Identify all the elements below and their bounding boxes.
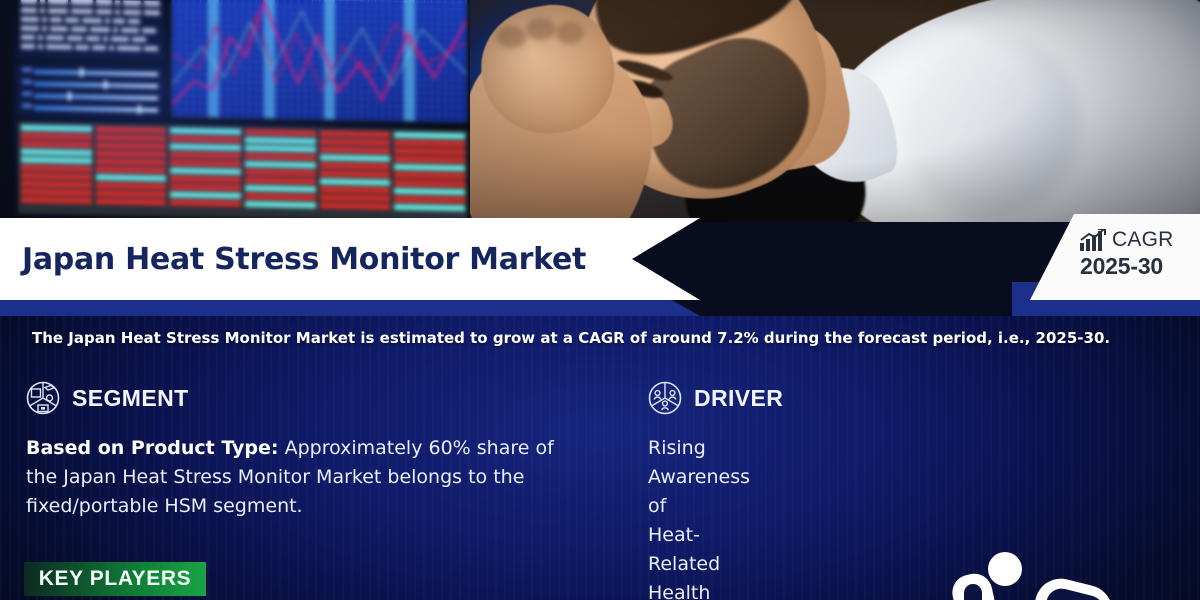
cagr-badge: CAGR 2025-30 (1030, 214, 1200, 300)
people-silhouette-icon (940, 548, 1140, 600)
key-players-label: KEY PLAYERS (39, 567, 192, 591)
page-title: Japan Heat Stress Monitor Market (0, 242, 586, 277)
bar-chart-growth-icon (1080, 229, 1106, 251)
driver-title: DRIVER (694, 385, 783, 412)
businessman-photo (470, 0, 1200, 222)
subtitle-strip: The Japan Heat Stress Monitor Market is … (0, 316, 1200, 360)
content-columns: SEGMENT Based on Product Type: Approxima… (0, 378, 1200, 548)
monitor-blur-overlay (0, 0, 502, 222)
title-banner: Japan Heat Stress Monitor Market (0, 218, 700, 300)
cagr-years: 2025-30 (1080, 253, 1200, 280)
cagr-label: CAGR (1112, 228, 1173, 252)
key-players-badge: KEY PLAYERS (24, 562, 206, 596)
driver-people-circle-icon (648, 381, 682, 415)
subtitle-text: The Japan Heat Stress Monitor Market is … (0, 329, 1110, 347)
hero-photo-band (0, 0, 1200, 222)
